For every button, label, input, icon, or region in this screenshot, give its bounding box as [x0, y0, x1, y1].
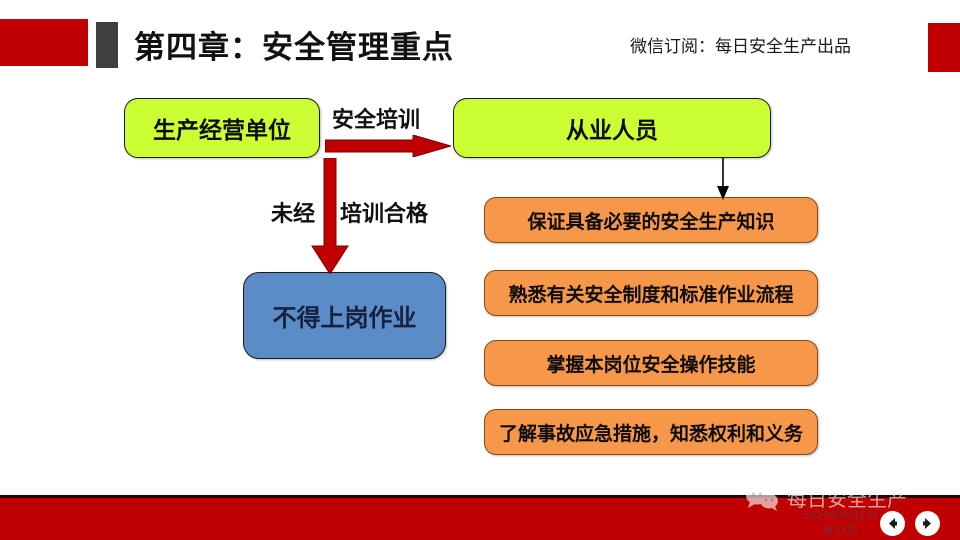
prev-page-button[interactable]	[880, 511, 905, 536]
requirement-box-2-label: 熟悉有关安全制度和标准作业流程	[508, 280, 793, 307]
requirement-box-3-label: 掌握本岗位安全操作技能	[546, 350, 755, 377]
node-production-unit: 生产经营单位	[124, 98, 320, 158]
node-employees: 从业人员	[453, 98, 771, 158]
arrow-down-requirements-icon	[707, 158, 739, 200]
requirement-box-1-label: 保证具备必要的安全生产知识	[527, 207, 774, 234]
requirement-box-4-label: 了解事故应急措施，知悉权利和义务	[499, 419, 803, 446]
node-employees-label: 从业人员	[566, 111, 658, 145]
footer-page-number: 第74页	[822, 522, 858, 538]
requirement-box-3: 掌握本岗位安全操作技能	[484, 340, 818, 386]
node-no-duty-allowed-label: 不得上岗作业	[273, 298, 417, 333]
edge-label-not-passed-left: 未经	[271, 196, 315, 228]
footer-date: 2020年4月2日	[802, 507, 877, 523]
slide-canvas: 第四章：安全管理重点 微信订阅：每日安全生产出品 生产经营单位 从业人员 不得上…	[0, 0, 960, 540]
page-title: 第四章：安全管理重点	[134, 22, 454, 67]
header-red-block-right	[928, 23, 960, 72]
header-gray-bar	[96, 22, 118, 68]
arrow-right-icon	[920, 516, 935, 531]
node-no-duty-allowed: 不得上岗作业	[243, 272, 446, 359]
requirement-box-4: 了解事故应急措施，知悉权利和义务	[484, 409, 818, 455]
arrow-right-training-icon	[325, 135, 451, 157]
header-subscription-note: 微信订阅：每日安全生产出品	[630, 32, 851, 57]
requirement-box-1: 保证具备必要的安全生产知识	[484, 197, 818, 243]
header-red-block-left	[0, 19, 88, 66]
edge-label-training: 安全培训	[332, 102, 420, 134]
edge-label-not-passed-right: 培训合格	[340, 196, 428, 228]
requirement-box-2: 熟悉有关安全制度和标准作业流程	[484, 270, 818, 316]
next-page-button[interactable]	[915, 511, 940, 536]
arrow-left-icon	[885, 516, 900, 531]
node-production-unit-label: 生产经营单位	[153, 111, 291, 145]
